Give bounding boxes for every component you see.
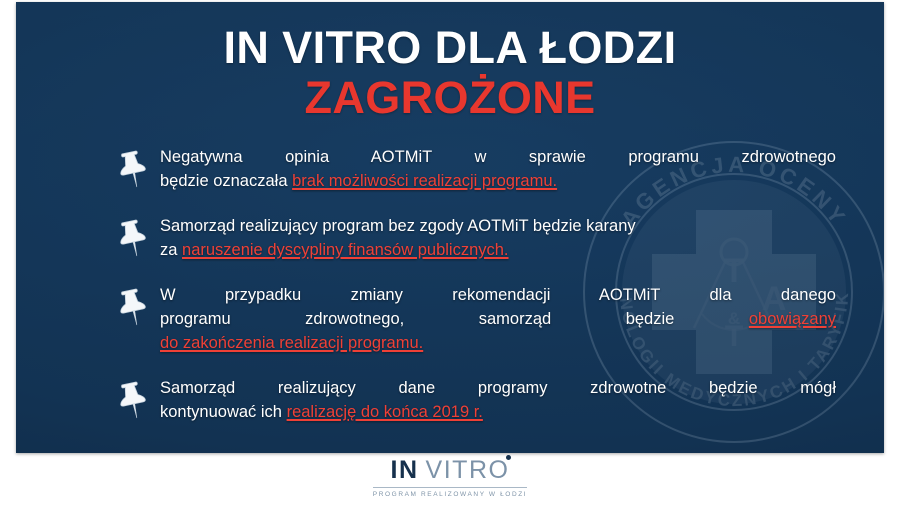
logo-tagline: PROGRAM REALIZOWANY W ŁODZI (373, 491, 527, 498)
bullet-text: W przypadku zmiany rekomendacji AOTMiT d… (160, 283, 836, 355)
bullet-text: Samorząd realizujący program bez zgody A… (160, 214, 836, 262)
highlighted-phrase: realizację do końca 2019 r. (287, 403, 483, 421)
plain-phrase: kontynuować ich (160, 403, 287, 421)
pushpin-icon (116, 287, 150, 329)
bullet-item: Samorząd realizujący dane programy zdrow… (116, 376, 836, 424)
bullet-item: Negatywna opinia AOTMiT w sprawie progra… (116, 145, 836, 193)
highlighted-phrase: brak możliwości realizacji programu. (292, 172, 557, 190)
logo-vitro-label: VITRO (426, 456, 510, 484)
bullet-text: Negatywna opinia AOTMiT w sprawie progra… (160, 145, 836, 193)
bullet-list: Negatywna opinia AOTMiT w sprawie progra… (116, 145, 836, 424)
logo-dot-icon (506, 455, 511, 460)
plain-phrase: Samorząd realizujący dane programy zdrow… (160, 379, 836, 397)
plain-phrase: Negatywna opinia AOTMiT w sprawie progra… (160, 148, 836, 166)
plain-phrase: W przypadku zmiany rekomendacji AOTMiT d… (160, 286, 836, 304)
bullet-item: W przypadku zmiany rekomendacji AOTMiT d… (116, 283, 836, 355)
bullet-text-line: Samorząd realizujący program bez zgody A… (160, 214, 836, 238)
plain-phrase: programu zdrowotnego, samorząd będzie (160, 310, 749, 328)
bullet-text-line: do zakończenia realizacji programu. (160, 331, 836, 355)
slide-root: T A T & AGENCJA OCENY TECHNOLOGII MEDYCZ… (0, 0, 900, 506)
pushpin-icon (116, 218, 150, 260)
logo-in-text: IN (391, 456, 419, 484)
plain-phrase: za (160, 241, 182, 259)
logo-divider (373, 487, 527, 488)
title-line-2: ZAGROŻONE (16, 74, 884, 122)
logo-wordmark: INVITRO (373, 458, 527, 483)
pushpin-icon (116, 380, 150, 422)
bullet-text: Samorząd realizujący dane programy zdrow… (160, 376, 836, 424)
bullet-text-line: W przypadku zmiany rekomendacji AOTMiT d… (160, 283, 836, 307)
logo-vitro-text: VITRO (426, 456, 510, 484)
content-panel: T A T & AGENCJA OCENY TECHNOLOGII MEDYCZ… (16, 2, 884, 453)
highlighted-phrase: obowiązany (749, 310, 836, 328)
title-line-1: IN VITRO DLA ŁODZI (16, 24, 884, 72)
bullet-text-line: za naruszenie dyscypliny finansów public… (160, 238, 836, 262)
plain-phrase: będzie oznaczała (160, 172, 292, 190)
bullet-text-line: kontynuować ich realizację do końca 2019… (160, 400, 836, 424)
highlighted-phrase: naruszenie dyscypliny finansów publiczny… (182, 241, 509, 259)
slide-title: IN VITRO DLA ŁODZI ZAGROŻONE (16, 24, 884, 121)
bullet-text-line: programu zdrowotnego, samorząd będzie ob… (160, 307, 836, 331)
bullet-text-line: Samorząd realizujący dane programy zdrow… (160, 376, 836, 400)
plain-phrase: Samorząd realizujący program bez zgody A… (160, 217, 636, 235)
highlighted-phrase: do zakończenia realizacji programu. (160, 334, 423, 352)
pushpin-icon (116, 149, 150, 191)
footer-logo: INVITRO PROGRAM REALIZOWANY W ŁODZI (0, 458, 900, 501)
bullet-text-line: Negatywna opinia AOTMiT w sprawie progra… (160, 145, 836, 169)
bullet-text-line: będzie oznaczała brak możliwości realiza… (160, 169, 836, 193)
bullet-item: Samorząd realizujący program bez zgody A… (116, 214, 836, 262)
